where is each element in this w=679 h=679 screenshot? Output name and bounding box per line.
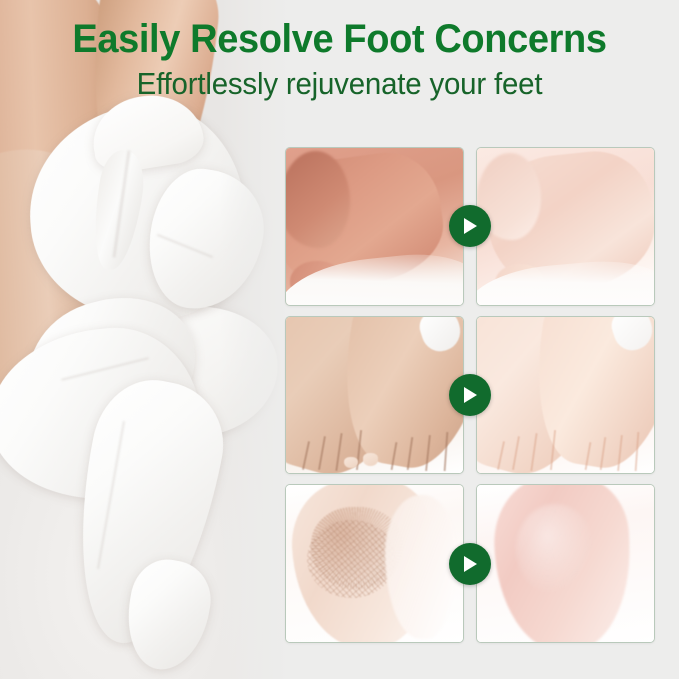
play-arrow-icon <box>449 543 491 585</box>
heading-block: Easily Resolve Foot Concerns Effortlessl… <box>0 18 679 101</box>
after-image-row-3 <box>476 484 655 643</box>
play-arrow-icon <box>449 374 491 416</box>
comparison-row-1 <box>285 147 655 306</box>
toe-separations-left <box>300 423 385 470</box>
after-image-row-2 <box>476 316 655 475</box>
after-side-foot-art <box>477 148 654 305</box>
before-side-foot-art <box>286 148 463 305</box>
smooth-skin-sheen <box>516 504 594 595</box>
cracked-skin-texture <box>307 520 396 598</box>
product-photo <box>0 0 290 679</box>
toe-separations-left <box>495 423 580 470</box>
product-marketing-image: Easily Resolve Foot Concerns Effortlessl… <box>0 0 679 679</box>
after-heel-art <box>477 485 654 642</box>
page-title: Easily Resolve Foot Concerns <box>17 18 662 61</box>
comparison-row-3 <box>285 484 655 643</box>
before-image-row-1 <box>285 147 464 306</box>
before-image-row-3 <box>285 484 464 643</box>
toe-separations-right <box>580 423 651 470</box>
toe-separations-right <box>385 423 459 470</box>
before-after-grid <box>285 147 655 643</box>
heel-shape <box>285 151 350 248</box>
before-top-feet-art <box>286 317 463 474</box>
page-subtitle: Effortlessly rejuvenate your feet <box>17 67 662 101</box>
before-heel-art <box>286 485 463 642</box>
before-image-row-2 <box>285 316 464 475</box>
photo-edge-fade <box>220 0 290 679</box>
after-image-row-1 <box>476 147 655 306</box>
after-top-feet-art <box>477 317 654 474</box>
comparison-row-2 <box>285 316 655 475</box>
